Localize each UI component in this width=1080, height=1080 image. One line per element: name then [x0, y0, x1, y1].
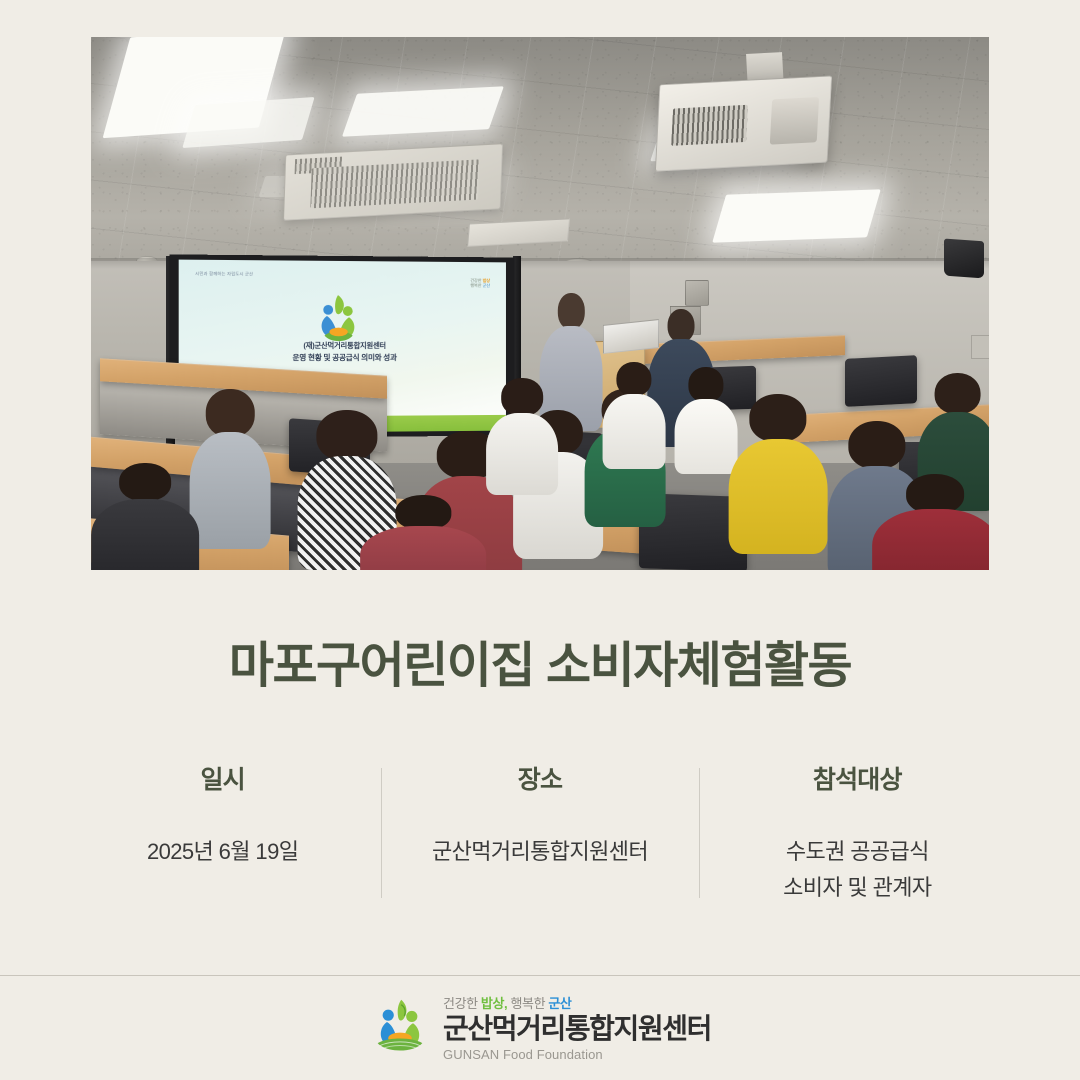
wall-speaker-icon — [944, 238, 984, 278]
info-value-line: 군산먹거리통합지원센터 — [391, 834, 688, 870]
slide-logo-accent2: 군산 — [482, 283, 489, 288]
slide-title-line2: 운영 현황 및 공공급식 의미와 성과 — [178, 351, 506, 362]
info-value-line: 소비자 및 관계자 — [709, 870, 1006, 906]
info-value-attendees: 수도권 공공급식 소비자 및 관계자 — [709, 834, 1006, 905]
tagline-accent-bapsang: 밥상, — [481, 996, 507, 1011]
slide-top-left-logo: 시민과 함께하는 자립도시 군산 — [195, 270, 253, 276]
audience-person — [91, 463, 199, 570]
brand-lockup: 건강한 밥상, 행복한 군산 군산먹거리통합지원센터 GUNSAN Food F… — [369, 993, 711, 1061]
page-title: 마포구어린이집 소비자체험활동 — [0, 638, 1080, 696]
wall-outlet — [685, 280, 709, 307]
info-column-attendees: 참석대상 수도권 공공급식 소비자 및 관계자 — [699, 760, 1016, 905]
projector-icon — [655, 75, 832, 172]
info-value-line: 2025년 6월 19일 — [74, 834, 371, 870]
brand-tagline: 건강한 밥상, 행복한 군산 — [443, 993, 711, 1012]
info-column-date: 일시 2025년 6월 19일 — [64, 760, 381, 870]
audience-person — [486, 378, 558, 495]
footer: 건강한 밥상, 행복한 군산 군산먹거리통합지원센터 GUNSAN Food F… — [0, 975, 1080, 1080]
brand-name: 군산먹거리통합지원센터 — [443, 1014, 711, 1044]
info-label-date: 일시 — [74, 760, 371, 796]
brand-text-block: 건강한 밥상, 행복한 군산 군산먹거리통합지원센터 GUNSAN Food F… — [443, 993, 711, 1061]
seminar-photo: 시민과 함께하는 자립도시 군산 건강한 밥상 행복한 군산 (재)군산먹거리통… — [91, 37, 989, 570]
slide-title: (재)군산먹거리통합지원센터 운영 현황 및 공공급식 의미와 성과 — [178, 341, 506, 363]
audience-person — [360, 495, 486, 570]
air-conditioner-vent — [283, 143, 503, 221]
info-label-venue: 장소 — [391, 760, 688, 796]
brand-subtitle: GUNSAN Food Foundation — [443, 1047, 711, 1062]
audience-person — [872, 474, 989, 570]
slide-top-right-logo: 건강한 밥상 행복한 군산 — [470, 277, 490, 288]
info-label-attendees: 참석대상 — [709, 760, 1006, 796]
slide-logo-line2-plain: 행복한 — [470, 283, 482, 288]
slide-logo-accent1: 밥상 — [482, 277, 489, 282]
tagline-part2: 행복한 — [507, 996, 548, 1011]
gunsan-food-foundation-logo-icon — [369, 996, 431, 1058]
info-value-date: 2025년 6월 19일 — [74, 834, 371, 870]
audience-person — [603, 362, 666, 469]
tagline-accent-gunsan: 군산 — [548, 996, 571, 1011]
photo-scene: 시민과 함께하는 자립도시 군산 건강한 밥상 행복한 군산 (재)군산먹거리통… — [91, 37, 989, 570]
event-info-row: 일시 2025년 6월 19일 장소 군산먹거리통합지원센터 참석대상 수도권 … — [64, 760, 1016, 905]
info-value-line: 수도권 공공급식 — [709, 834, 1006, 870]
ceiling-light-icon — [712, 189, 880, 242]
chair — [845, 355, 917, 407]
audience-person — [190, 389, 271, 549]
tagline-part1: 건강한 — [443, 996, 481, 1011]
ceiling-light-icon — [182, 97, 314, 148]
ceiling-light-icon — [343, 87, 504, 137]
slide-title-line1: (재)군산먹거리통합지원센터 — [178, 341, 506, 352]
wall-outlet — [971, 335, 989, 358]
slide-logo-line1-plain: 건강한 — [470, 277, 482, 282]
info-column-venue: 장소 군산먹거리통합지원센터 — [381, 760, 698, 870]
info-value-venue: 군산먹거리통합지원센터 — [391, 834, 688, 870]
audience-person — [729, 394, 828, 554]
